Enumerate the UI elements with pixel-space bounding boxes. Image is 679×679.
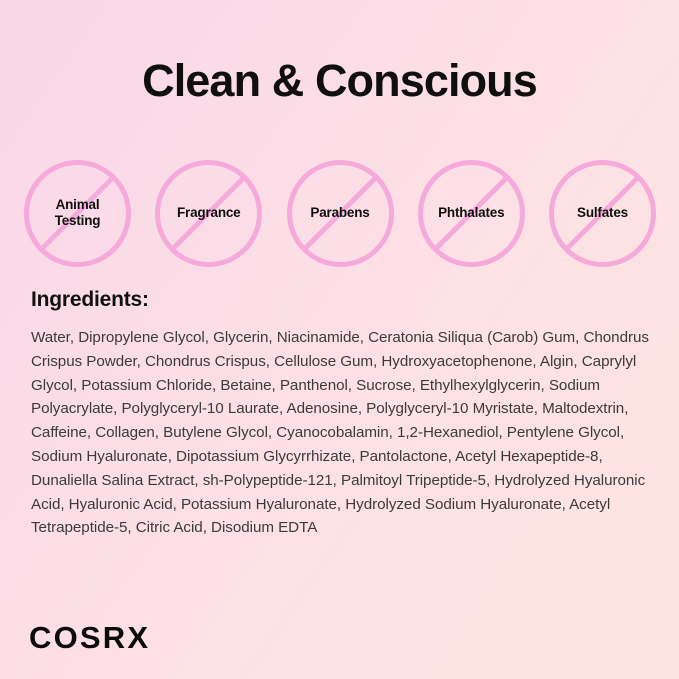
- badge-label: Fragrance: [177, 205, 240, 221]
- free-from-badge-row: Animal Testing Fragrance Parabens Phthal…: [24, 159, 656, 267]
- badge-fragrance: Fragrance: [155, 160, 262, 267]
- badge-label: Parabens: [310, 205, 369, 221]
- badge-sulfates: Sulfates: [549, 160, 656, 267]
- badge-label: Phthalates: [438, 205, 504, 221]
- badge-label: Sulfates: [577, 205, 628, 221]
- badge-phthalates: Phthalates: [418, 160, 525, 267]
- ingredients-heading: Ingredients:: [31, 288, 149, 312]
- badge-label: Animal Testing: [55, 197, 101, 229]
- brand-logo: COSRX: [29, 622, 150, 653]
- product-info-card: Clean & Conscious Animal Testing Fragran…: [0, 0, 679, 679]
- badge-animal-testing: Animal Testing: [24, 160, 131, 267]
- ingredients-list: Water, Dipropylene Glycol, Glycerin, Nia…: [31, 326, 653, 540]
- page-title: Clean & Conscious: [0, 58, 679, 103]
- badge-parabens: Parabens: [287, 160, 394, 267]
